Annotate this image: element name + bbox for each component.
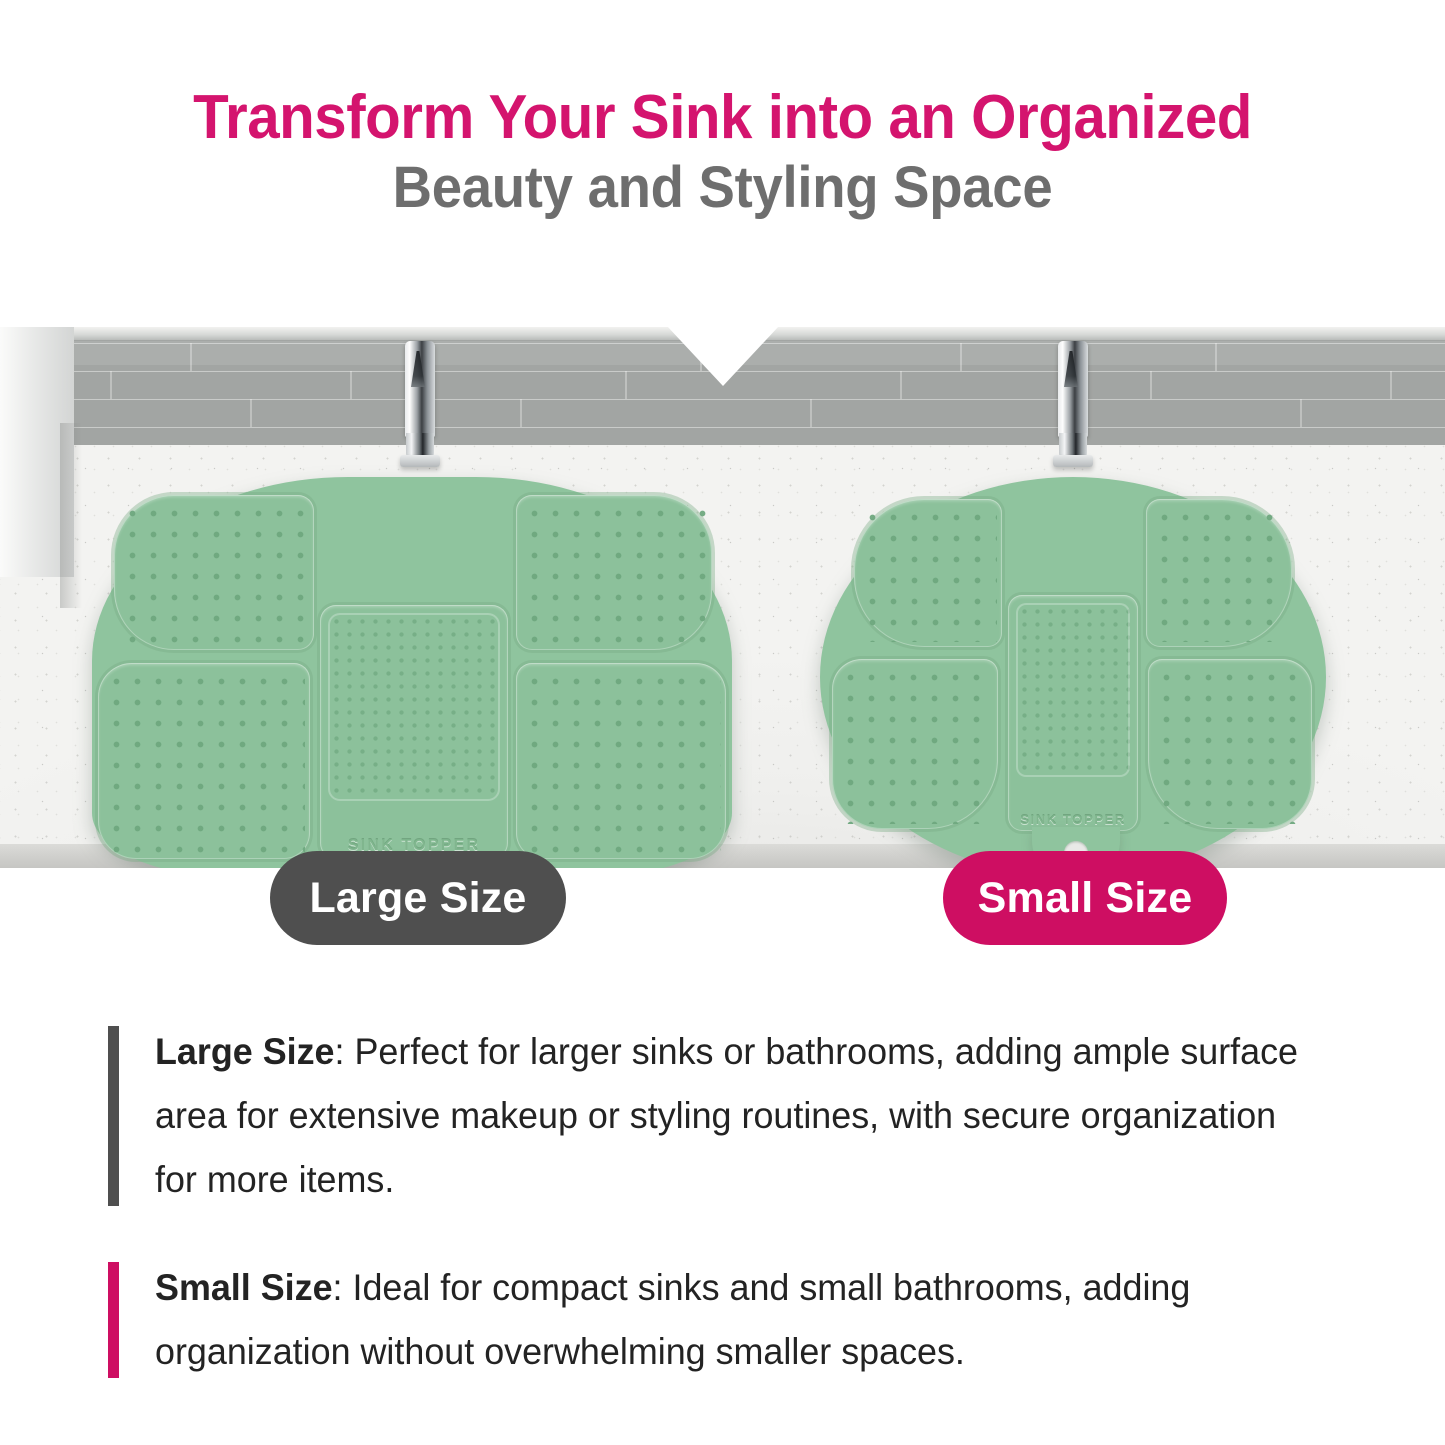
feature-small-term: Small Size <box>155 1267 333 1308</box>
mat-panel-right-upper <box>1146 499 1292 647</box>
mat-brand-emboss-small: SINK TOPPER <box>1008 812 1138 827</box>
mat-panel-right-lower <box>516 663 726 859</box>
faucet-base <box>1053 455 1093 467</box>
size-label-small-text: Small Size <box>978 874 1193 923</box>
mat-panel-dot-texture <box>859 504 997 642</box>
feature-large-separator: : <box>335 1031 355 1072</box>
feature-list: Large Size: Perfect for larger sinks or … <box>108 1020 1358 1428</box>
mat-panel-dot-texture <box>1153 664 1307 824</box>
tile-seam <box>960 343 962 371</box>
tile-seam <box>625 371 627 399</box>
tile-grout-line <box>0 399 1445 400</box>
tile-seam <box>350 371 352 399</box>
faucet-shadow <box>1064 351 1078 387</box>
mat-center-fine-dot-texture <box>1016 603 1130 777</box>
feature-item-small: Small Size: Ideal for compact sinks and … <box>108 1256 1358 1384</box>
product-photo: SINK TOPPER SINK TOPPER <box>0 327 1445 868</box>
feature-large-paragraph: Large Size: Perfect for larger sinks or … <box>155 1020 1322 1212</box>
tile-grout-line <box>0 427 1445 428</box>
mat-panel-center: SINK TOPPER <box>1008 595 1138 831</box>
feature-small-paragraph: Small Size: Ideal for compact sinks and … <box>155 1256 1322 1384</box>
mat-panel-center: SINK TOPPER <box>320 605 508 859</box>
headline-block: Transform Your Sink into an Organized Be… <box>0 82 1445 222</box>
tile-seam <box>1150 371 1152 399</box>
mat-panel-left-lower <box>98 663 310 859</box>
mat-panel-dot-texture <box>521 668 721 854</box>
accent-bar-gray <box>108 1026 119 1206</box>
mat-panel-right-lower <box>1148 659 1312 829</box>
mat-panel-left-lower <box>832 659 998 829</box>
faucet-neck <box>1058 341 1088 437</box>
faucet-neck <box>405 341 435 437</box>
tile-seam <box>1390 371 1392 399</box>
feature-item-large: Large Size: Perfect for larger sinks or … <box>108 1020 1358 1212</box>
tile-seam <box>810 399 812 427</box>
tile-seam <box>110 371 112 399</box>
mat-panel-dot-texture <box>1151 504 1287 642</box>
mat-panel-left-upper <box>854 499 1002 647</box>
tile-seam <box>1215 343 1217 371</box>
faucet-base <box>400 455 440 467</box>
tile-seam <box>520 399 522 427</box>
mat-center-fine-dot-texture <box>328 613 500 801</box>
mat-panel-right-upper <box>516 495 712 650</box>
feature-small-separator: : <box>333 1267 353 1308</box>
tile-seam <box>250 399 252 427</box>
callout-notch-triangle <box>667 327 779 386</box>
accent-bar-pink <box>108 1262 119 1378</box>
corner-shadow <box>60 423 82 608</box>
faucet-left <box>405 341 437 471</box>
faucet-shadow <box>411 351 425 387</box>
size-label-large-text: Large Size <box>309 874 526 923</box>
faucet-right <box>1058 341 1090 471</box>
feature-large-term: Large Size <box>155 1031 335 1072</box>
mat-panel-dot-texture <box>521 500 707 645</box>
size-label-small[interactable]: Small Size <box>943 851 1227 945</box>
mat-panel-dot-texture <box>837 664 993 824</box>
tile-seam <box>190 343 192 371</box>
mat-panel-left-upper <box>114 495 314 650</box>
sink-topper-mat-small: SINK TOPPER <box>820 477 1326 868</box>
mat-panel-dot-texture <box>119 500 309 645</box>
size-label-large[interactable]: Large Size <box>270 851 566 945</box>
headline-line-1: Transform Your Sink into an Organized <box>43 82 1401 154</box>
headline-line-2: Beauty and Styling Space <box>43 154 1401 222</box>
mat-panel-dot-texture <box>103 668 305 854</box>
tile-seam <box>1300 399 1302 427</box>
tile-seam <box>900 371 902 399</box>
sink-topper-mat-large: SINK TOPPER <box>92 477 732 868</box>
